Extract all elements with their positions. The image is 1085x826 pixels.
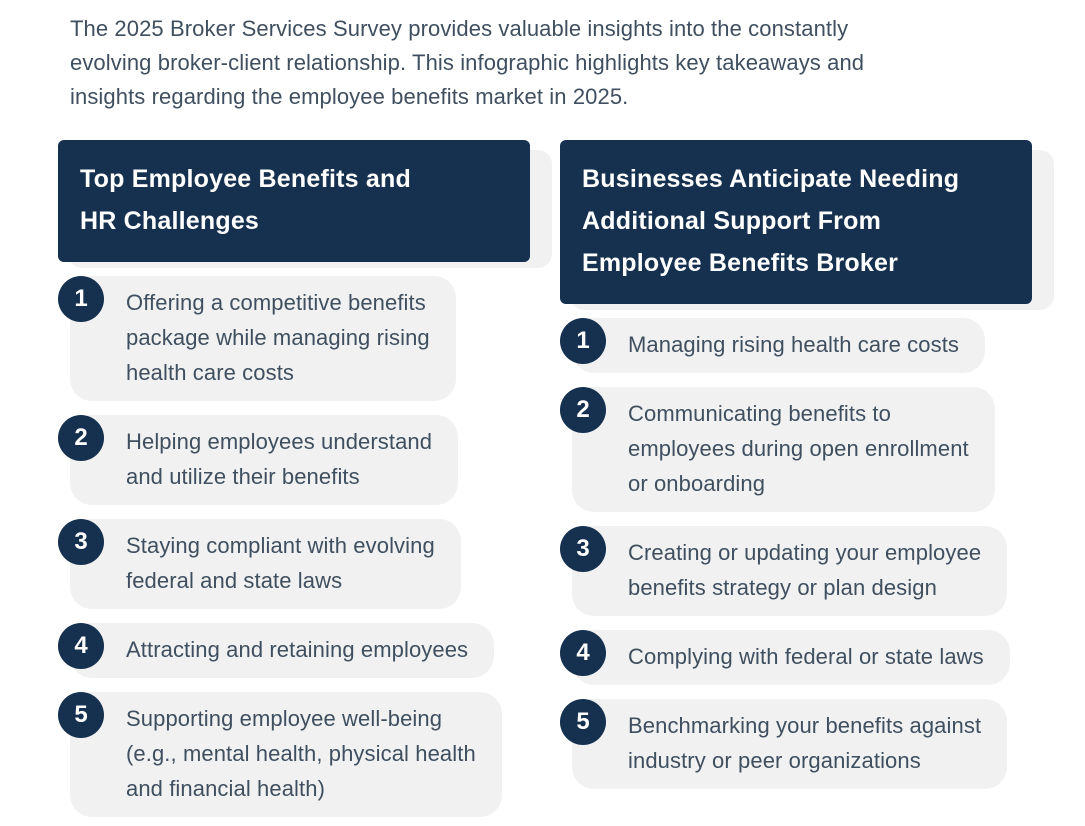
item-text-line: and utilize their benefits [126,459,432,494]
section-title-line: Additional Support From [582,200,1010,242]
item-text-line: Offering a competitive benefits [126,285,430,320]
section-title-line: HR Challenges [80,200,508,242]
list-item[interactable]: 5 Benchmarking your benefits against ind… [560,699,1060,789]
list-item[interactable]: 3 Creating or updating your employee ben… [560,526,1060,616]
item-number-badge: 3 [560,526,606,572]
item-text-pill: Helping employees understand and utilize… [70,415,458,505]
item-number-badge: 5 [560,699,606,745]
item-text-line: Staying compliant with evolving [126,528,435,563]
item-number-badge: 4 [560,630,606,676]
item-number-badge: 2 [560,387,606,433]
intro-paragraph: The 2025 Broker Services Survey provides… [70,12,1000,114]
item-text-line: or onboarding [628,466,969,501]
item-text-pill: Staying compliant with evolving federal … [70,519,461,609]
section-header-additional-support: Businesses Anticipate Needing Additional… [560,140,1060,304]
column-additional-support: Businesses Anticipate Needing Additional… [560,140,1060,803]
section-title-line: Businesses Anticipate Needing [582,158,1010,200]
item-number-badge: 2 [58,415,104,461]
item-text-pill: Benchmarking your benefits against indus… [572,699,1007,789]
item-number-badge: 4 [58,623,104,669]
item-number-badge: 1 [560,318,606,364]
item-text-line: Communicating benefits to [628,396,969,431]
item-text-line: employees during open enrollment [628,431,969,466]
item-number-badge: 3 [58,519,104,565]
item-text-line: federal and state laws [126,563,435,598]
section-header-title: Businesses Anticipate Needing Additional… [560,140,1032,304]
list-item[interactable]: 1 Managing rising health care costs [560,318,1060,373]
item-text-pill: Attracting and retaining employees [70,623,494,678]
intro-line: evolving broker-client relationship. Thi… [70,46,1000,80]
item-text-line: Attracting and retaining employees [126,632,468,667]
item-text-line: health care costs [126,355,430,390]
item-text-line: industry or peer organizations [628,743,981,778]
list-additional-support: 1 Managing rising health care costs 2 Co… [560,318,1060,789]
item-text-line: (e.g., mental health, physical health [126,736,476,771]
item-text-line: benefits strategy or plan design [628,570,981,605]
column-top-challenges: Top Employee Benefits and HR Challenges … [58,140,558,826]
list-item[interactable]: 4 Attracting and retaining employees [58,623,558,678]
item-text-pill: Creating or updating your employee benef… [572,526,1007,616]
list-item[interactable]: 3 Staying compliant with evolving federa… [58,519,558,609]
list-top-challenges: 1 Offering a competitive benefits packag… [58,276,558,817]
section-header-title: Top Employee Benefits and HR Challenges [58,140,530,262]
item-text-pill: Offering a competitive benefits package … [70,276,456,401]
list-item[interactable]: 4 Complying with federal or state laws [560,630,1060,685]
item-text-line: and financial health) [126,771,476,806]
item-text-pill: Managing rising health care costs [572,318,985,373]
list-item[interactable]: 1 Offering a competitive benefits packag… [58,276,558,401]
item-text-line: Supporting employee well-being [126,701,476,736]
item-text-pill: Supporting employee well-being (e.g., me… [70,692,502,817]
item-number-badge: 5 [58,692,104,738]
intro-line: insights regarding the employee benefits… [70,80,1000,114]
section-title-line: Top Employee Benefits and [80,158,508,200]
item-text-line: Complying with federal or state laws [628,639,984,674]
item-text-line: package while managing rising [126,320,430,355]
item-number-badge: 1 [58,276,104,322]
list-item[interactable]: 5 Supporting employee well-being (e.g., … [58,692,558,817]
item-text-line: Helping employees understand [126,424,432,459]
item-text-line: Benchmarking your benefits against [628,708,981,743]
section-header-top-challenges: Top Employee Benefits and HR Challenges [58,140,558,262]
list-item[interactable]: 2 Helping employees understand and utili… [58,415,558,505]
item-text-pill: Complying with federal or state laws [572,630,1010,685]
section-title-line: Employee Benefits Broker [582,242,1010,284]
item-text-line: Creating or updating your employee [628,535,981,570]
item-text-line: Managing rising health care costs [628,327,959,362]
list-item[interactable]: 2 Communicating benefits to employees du… [560,387,1060,512]
intro-line: The 2025 Broker Services Survey provides… [70,12,1000,46]
item-text-pill: Communicating benefits to employees duri… [572,387,995,512]
